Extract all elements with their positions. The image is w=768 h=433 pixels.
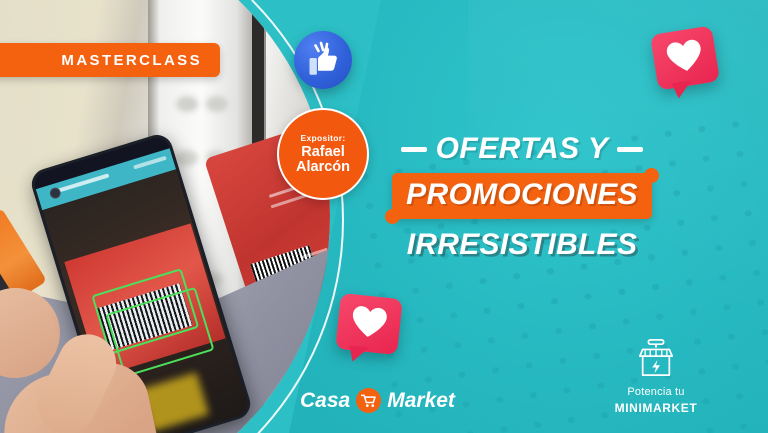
headline-line-1: OFERTAS Y: [372, 132, 672, 166]
photo-shelf-blur: [176, 150, 198, 166]
headline-text-1: OFERTAS Y: [436, 132, 609, 166]
promo-banner: MASTERCLASS Expositor: Rafael Alarcón OF…: [0, 0, 768, 433]
headline-text-3: IRRESISTIBLES: [372, 228, 672, 262]
facebook-thumbs-up-icon: [294, 31, 352, 89]
logo-word-casa: Casa: [300, 389, 350, 413]
shopping-cart-icon: [356, 388, 381, 413]
brand-tagline: Potencia tu: [627, 386, 684, 398]
dash-right-icon: [617, 147, 643, 152]
heart-reaction-icon: [335, 293, 403, 355]
minimarket-brand-mark: Potencia tu MINIMARKET: [600, 338, 712, 415]
headline-text-2: PROMOCIONES: [406, 178, 638, 211]
speaker-role-label: Expositor:: [300, 133, 345, 143]
accent-dot-bottom-left: [385, 209, 400, 224]
storefront-lightning-icon: [635, 338, 677, 383]
headline-block: OFERTAS Y PROMOCIONES IRRESISTIBLES: [372, 132, 672, 262]
brand-name: MINIMARKET: [615, 401, 698, 415]
photo-shelf-blur: [206, 96, 228, 112]
speaker-name-line2: Alarcón: [296, 160, 350, 175]
dash-left-icon: [401, 147, 427, 152]
headline-highlight-box: PROMOCIONES: [392, 173, 652, 219]
masterclass-ribbon: MASTERCLASS: [0, 43, 220, 77]
logo-word-market: Market: [387, 389, 455, 413]
heart-reaction-icon: [650, 25, 720, 90]
accent-dot-top-right: [644, 168, 659, 183]
masterclass-label: MASTERCLASS: [61, 52, 202, 69]
casa-market-logo: Casa Market: [300, 388, 455, 413]
speaker-badge: Expositor: Rafael Alarcón: [277, 108, 369, 200]
photo-shelf-blur: [176, 96, 198, 112]
speaker-name-line1: Rafael: [301, 145, 345, 160]
